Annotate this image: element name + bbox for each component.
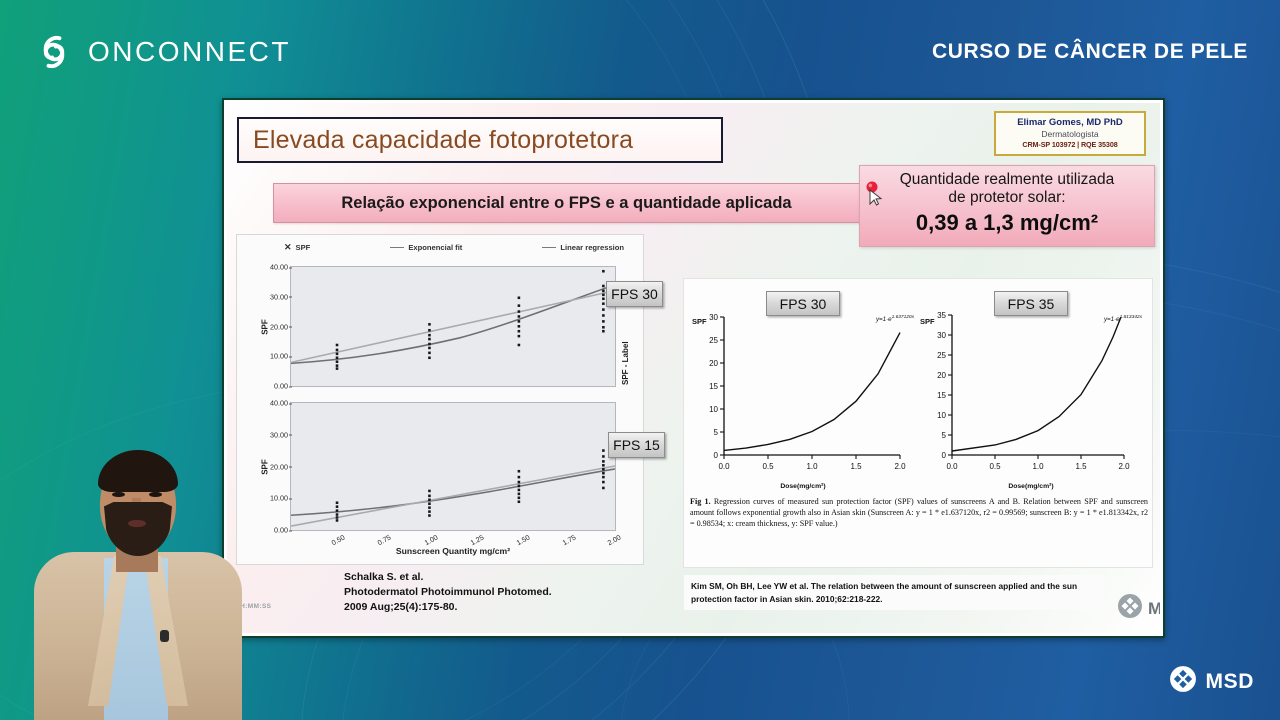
presenter-eye-left — [112, 492, 125, 497]
y-tick: 0.00 — [274, 526, 288, 535]
legend-item-linear-regression: Linear regression — [542, 242, 624, 253]
legend-label: Linear regression — [560, 243, 624, 252]
slide-title-box: Elevada capacidade fotoprotetora — [237, 117, 723, 163]
svg-text:1.0: 1.0 — [1032, 462, 1044, 471]
msd-logo-slide: MSD — [1117, 593, 1160, 624]
chart-kim: FPS 30 SPF y=1·e1.637120x — [683, 278, 1153, 568]
slide-content: Elevada capacidade fotoprotetora Elimar … — [227, 103, 1160, 633]
msd-clover-icon — [1169, 665, 1197, 698]
course-title: CURSO DE CÂNCER DE PELE — [932, 40, 1248, 64]
presenter-mouth — [128, 520, 146, 527]
chart-panel-sunscreen-b: FPS 35 SPF y=1·e1.813342x — [918, 287, 1144, 492]
svg-text:25: 25 — [937, 351, 946, 360]
y-tick: 10.00 — [270, 494, 288, 503]
svg-text:1.5: 1.5 — [1075, 462, 1087, 471]
svg-text:30: 30 — [709, 313, 718, 322]
msd-clover-icon — [1117, 593, 1143, 624]
msd-wordmark: MSD — [1206, 670, 1254, 694]
chart-plot-area — [291, 267, 615, 386]
y-axis-label: SPF — [260, 319, 269, 335]
x-axis-label-text: Sunscreen Quantity mg/cm² — [396, 546, 510, 556]
presenter-role: Dermatologista — [1001, 129, 1139, 140]
presenter-eyebrow-right — [148, 484, 164, 488]
svg-text:0: 0 — [942, 451, 947, 460]
svg-text:35: 35 — [937, 311, 946, 320]
svg-text:0.5: 0.5 — [762, 462, 774, 471]
presenter-beard — [104, 502, 172, 556]
x-axis-label: Sunscreen Quantity mg/cm² — [290, 546, 616, 556]
citation-line: Photodermatol Photoimmunol Photomed. — [344, 585, 552, 600]
line-marker-icon — [542, 247, 556, 248]
slide-subtitle-box: Relação exponencial entre o FPS e a quan… — [273, 183, 860, 223]
svg-text:5: 5 — [714, 428, 719, 437]
fps-tag-30-right: FPS 30 — [766, 291, 840, 316]
svg-text:2.0: 2.0 — [894, 462, 906, 471]
msd-wordmark: MSD — [1148, 599, 1160, 619]
y-tick: 10.00 — [270, 352, 288, 361]
legend-label: Exponencial fit — [408, 243, 462, 252]
svg-text:2.0: 2.0 — [1118, 462, 1130, 471]
callout-value: 0,39 a 1,3 mg/cm² — [860, 210, 1154, 236]
y-tick: 40.00 — [270, 263, 288, 272]
svg-text:15: 15 — [937, 391, 946, 400]
presenter-video — [32, 440, 244, 720]
svg-text:1.5: 1.5 — [850, 462, 862, 471]
y-tick: 20.00 — [270, 322, 288, 331]
y-tick: 20.00 — [270, 462, 288, 471]
presenter-eyebrow-left — [110, 484, 126, 488]
presenter-name: Elimar Gomes, MD PhD — [1001, 117, 1139, 129]
x-axis-label: Dose(mg/cm²) — [918, 483, 1144, 490]
brand-name: ONCONNECT — [88, 36, 291, 68]
presentation-stage: ONCONNECT CURSO DE CÂNCER DE PELE Elevad… — [0, 0, 1280, 720]
fps-tag-15-left: FPS 15 — [608, 432, 665, 458]
quantity-callout: Quantidade realmente utilizada de protet… — [859, 165, 1155, 247]
svg-text:5: 5 — [942, 431, 947, 440]
svg-text:0.0: 0.0 — [718, 462, 730, 471]
chart-legend: ✕ SPF Exponencial fit Linear regression — [237, 242, 643, 253]
slide-subtitle: Relação exponencial entre o FPS e a quan… — [341, 194, 791, 213]
legend-item-exponencial-fit: Exponencial fit — [390, 242, 462, 253]
chart-panel-fps15: SPF 0.00 10.00 20.00 30.00 40.00 0.50 0.… — [290, 402, 616, 531]
y-axis-label: SPF — [260, 459, 269, 475]
slide-frame: Elevada capacidade fotoprotetora Elimar … — [222, 98, 1165, 638]
y-tick: 0.00 — [274, 382, 288, 391]
svg-text:20: 20 — [937, 371, 946, 380]
svg-text:0.5: 0.5 — [989, 462, 1001, 471]
svg-text:1.0: 1.0 — [806, 462, 818, 471]
presenter-credentials: Elimar Gomes, MD PhD Dermatologista CRM-… — [994, 111, 1146, 156]
citation-schalka: Schalka S. et al. Photodermatol Photoimm… — [344, 570, 552, 615]
legend-item-spf: ✕ SPF — [284, 242, 310, 253]
y-tick: 30.00 — [270, 292, 288, 301]
svg-text:30: 30 — [937, 331, 946, 340]
presenter-registration: CRM-SP 103972 | RQE 35308 — [1001, 140, 1139, 149]
svg-text:10: 10 — [937, 411, 946, 420]
callout-line-1: Quantidade realmente utilizada — [860, 171, 1154, 189]
presenter-lapel-mic — [160, 630, 169, 642]
page-header: ONCONNECT CURSO DE CÂNCER DE PELE — [0, 0, 1280, 100]
fps-tag-35-right: FPS 35 — [994, 291, 1068, 316]
chart-plot-area: 05 1015 2025 3035 0.00.5 1.01.5 2.0 — [918, 287, 1144, 492]
chart-plot-area — [291, 403, 615, 530]
svg-text:0: 0 — [714, 451, 719, 460]
laser-pointer-cursor — [865, 181, 887, 207]
svg-text:25: 25 — [709, 336, 718, 345]
x-axis-label: Dose(mg/cm²) — [690, 483, 916, 490]
spf-label-vertical: SPF - Label — [621, 341, 630, 385]
svg-text:10: 10 — [709, 405, 718, 414]
figure-caption: Fig 1. Regression curves of measured sun… — [690, 497, 1148, 529]
slide-title: Elevada capacidade fotoprotetora — [253, 126, 633, 155]
chart-plot-area: 05 1015 2025 30 0.00.5 1.01.5 2.0 — [690, 287, 916, 492]
line-marker-icon — [390, 247, 404, 248]
y-tick: 30.00 — [270, 430, 288, 439]
onconnect-swirl-icon — [32, 30, 76, 74]
figure-caption-text: Regression curves of measured sun protec… — [690, 497, 1148, 528]
svg-text:0.0: 0.0 — [946, 462, 958, 471]
legend-label: SPF — [296, 243, 311, 252]
svg-text:15: 15 — [709, 382, 718, 391]
citation-kim: Kim SM, Oh BH, Lee YW et al. The relatio… — [684, 575, 1104, 610]
chart-panel-sunscreen-a: FPS 30 SPF y=1·e1.637120x — [690, 287, 916, 492]
chart-panel-fps30: SPF 0.00 10.00 20.00 30.00 40.00 — [290, 266, 616, 387]
x-marker-icon: ✕ — [284, 242, 292, 253]
fps-tag-30-left: FPS 30 — [606, 281, 663, 307]
presenter-eye-right — [149, 492, 162, 497]
chart-schalka: ✕ SPF Exponencial fit Linear regression … — [236, 234, 644, 565]
citation-line: Schalka S. et al. — [344, 570, 552, 585]
svg-text:20: 20 — [709, 359, 718, 368]
y-tick: 40.00 — [270, 399, 288, 408]
citation-line: 2009 Aug;25(4):175-80. — [344, 600, 552, 615]
msd-logo-footer: MSD — [1169, 665, 1254, 698]
onconnect-logo: ONCONNECT — [32, 30, 291, 74]
callout-line-2: de protetor solar: — [860, 189, 1154, 207]
figure-caption-prefix: Fig 1. — [690, 497, 711, 506]
